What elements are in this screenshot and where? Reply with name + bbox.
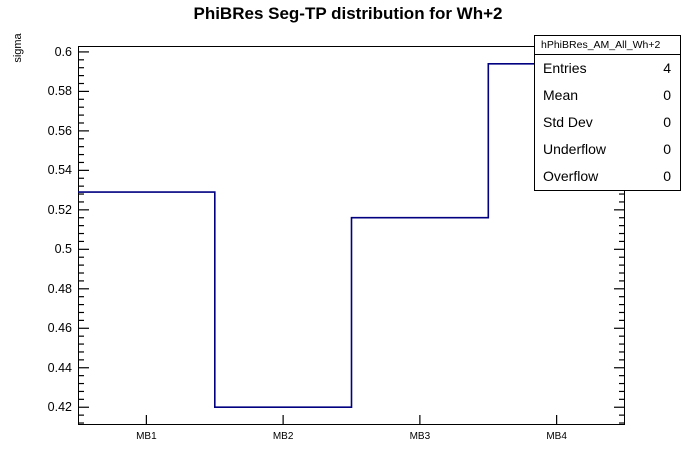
stats-box-title: hPhiBRes_AM_All_Wh+2 (535, 36, 680, 55)
y-tick-label: 0.54 (20, 163, 72, 177)
stats-row-value: 0 (663, 110, 671, 135)
page-title: PhiBRes Seg-TP distribution for Wh+2 (0, 4, 696, 24)
y-tick-label: 0.6 (20, 45, 72, 59)
stats-row-value: 0 (663, 137, 671, 162)
stats-row-label: Underflow (543, 137, 606, 162)
y-tick-label: 0.42 (20, 400, 72, 414)
stats-row-value: 4 (663, 56, 671, 81)
stats-row: Underflow0 (535, 136, 680, 163)
x-tick-label: MB3 (410, 431, 431, 442)
stats-row: Std Dev0 (535, 109, 680, 136)
stats-row-label: Std Dev (543, 110, 593, 135)
stats-row: Entries4 (535, 55, 680, 82)
y-tick-label: 0.52 (20, 203, 72, 217)
stats-row: Overflow0 (535, 163, 680, 190)
stats-box-rows: Entries4Mean0Std Dev0Underflow0Overflow0 (535, 55, 680, 190)
x-tick-label: MB1 (136, 431, 157, 442)
stats-row-label: Overflow (543, 164, 598, 189)
stats-row-label: Entries (543, 56, 587, 81)
stats-box[interactable]: hPhiBRes_AM_All_Wh+2 Entries4Mean0Std De… (534, 35, 681, 191)
y-tick-label: 0.44 (20, 361, 72, 375)
stats-row: Mean0 (535, 82, 680, 109)
plot-canvas: PhiBRes Seg-TP distribution for Wh+2 sig… (0, 0, 696, 472)
y-tick-label: 0.58 (20, 84, 72, 98)
y-tick-label: 0.46 (20, 321, 72, 335)
stats-row-label: Mean (543, 83, 578, 108)
y-tick-label: 0.56 (20, 124, 72, 138)
stats-row-value: 0 (663, 164, 671, 189)
x-tick-label: MB4 (546, 431, 567, 442)
y-tick-label: 0.5 (20, 242, 72, 256)
y-tick-label: 0.48 (20, 282, 72, 296)
stats-row-value: 0 (663, 83, 671, 108)
x-tick-label: MB2 (273, 431, 294, 442)
